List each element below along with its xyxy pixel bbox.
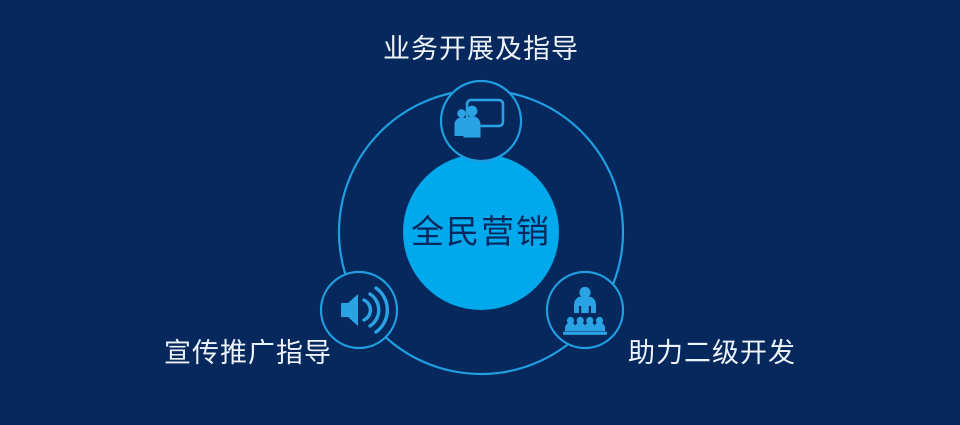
node-top[interactable] [441, 81, 521, 161]
infographic-stage: 全民营销 业务开展及指导 宣传推广指导 助力二级开发 [0, 0, 960, 425]
node-top-circle [441, 81, 521, 161]
node-bottom-left[interactable] [321, 272, 397, 348]
node-bottom-left-circle [321, 272, 397, 348]
node-top-caption: 业务开展及指导 [383, 33, 579, 65]
hub-label: 全民营销 [403, 214, 559, 250]
node-bottom-left-caption: 宣传推广指导 [164, 337, 332, 369]
node-bottom-right-caption: 助力二级开发 [628, 337, 796, 369]
node-bottom-right[interactable] [547, 272, 623, 348]
